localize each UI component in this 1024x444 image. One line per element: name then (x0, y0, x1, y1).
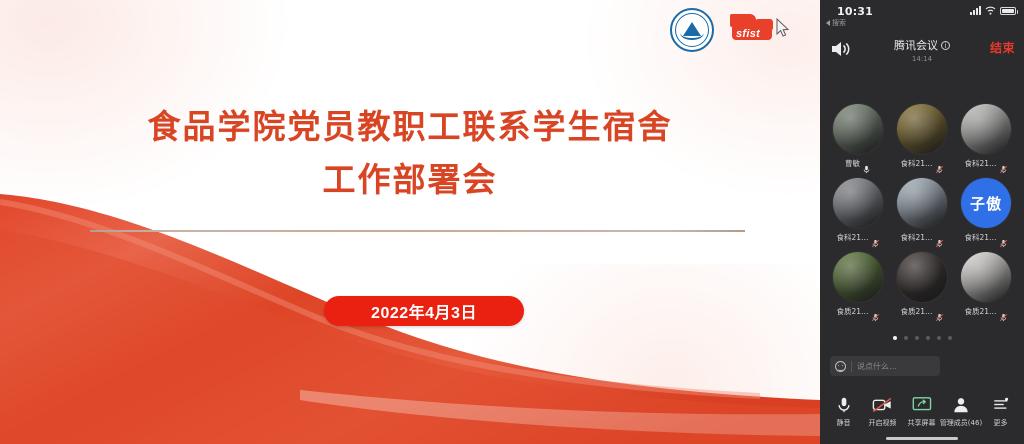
slide-title-line-1: 食品学院党员教职工联系学生宿舍 (0, 100, 820, 153)
participant-tile[interactable]: 曹敏 (830, 104, 886, 169)
participant-name: 食科21… (900, 232, 932, 243)
participant-tile[interactable]: 食科21… (894, 178, 950, 243)
mic-off-icon (935, 159, 944, 168)
cellular-signal-icon (970, 6, 981, 15)
participant-tile[interactable]: 子傲食科21… (958, 178, 1014, 243)
avatar (897, 178, 947, 228)
more-icon (992, 394, 1010, 415)
avatar (961, 252, 1011, 302)
avatar (897, 104, 947, 154)
participant-name: 食科21… (900, 158, 932, 169)
toolbar-button-microphone[interactable]: 静音 (824, 394, 863, 428)
participant-name: 食质21… (900, 306, 932, 317)
page-dot[interactable] (915, 336, 919, 340)
toolbar-button-members[interactable]: 管理成员(46) (941, 394, 981, 428)
toolbar-button-label: 开启视频 (869, 418, 897, 428)
university-seal-logo (670, 8, 714, 52)
participant-name-row: 食科21… (900, 232, 943, 243)
participant-name-row: 食科21… (836, 232, 879, 243)
mic-off-icon (935, 307, 944, 316)
status-indicators (970, 6, 1016, 15)
participant-row: 食科21…食科21…子傲食科21… (830, 178, 1014, 243)
status-bar: 10:31 搜索 (820, 0, 1024, 30)
share-screen-icon (912, 394, 932, 415)
logo-group: sfist (670, 8, 776, 52)
participant-name: 食质21… (836, 306, 868, 317)
participant-tile[interactable]: 食质21… (830, 252, 886, 317)
participant-row: 食质21…食质21…食质21… (830, 252, 1014, 317)
mic-off-icon (999, 159, 1008, 168)
page-dot[interactable] (926, 336, 930, 340)
mic-off-icon (871, 233, 880, 242)
participant-name-row: 曹敏 (845, 158, 871, 169)
emoji-icon[interactable] (835, 361, 846, 372)
toolbar-button-label: 共享屏幕 (908, 418, 936, 428)
back-app-label: 搜索 (832, 18, 846, 28)
avatar (961, 104, 1011, 154)
participant-name: 食科21… (964, 158, 996, 169)
participant-name-row: 食质21… (836, 306, 879, 317)
toolbar-button-more[interactable]: 更多 (981, 394, 1020, 428)
slide-date-badge: 2022年4月3日 (324, 296, 524, 326)
presentation-slide: sfist 食品学院党员教职工联系学生宿舍 工作部署会 2022年4月3日 (0, 0, 820, 444)
avatar (833, 178, 883, 228)
meeting-header: 腾讯会议i 14:14 结束 (820, 30, 1024, 72)
page-dot[interactable] (948, 336, 952, 340)
sfist-logo-text: sfist (736, 28, 760, 40)
participant-name: 食科21… (836, 232, 868, 243)
avatar-initials: 子傲 (961, 178, 1011, 228)
mic-off-icon (871, 307, 880, 316)
meeting-app-title-text: 腾讯会议 (894, 39, 938, 52)
participant-tile[interactable]: 食科21… (958, 104, 1014, 169)
status-clock: 10:31 (837, 5, 873, 18)
participant-name: 食质21… (964, 306, 996, 317)
battery-icon (1000, 7, 1016, 15)
phone-meeting-panel: 10:31 搜索 腾讯会议i (820, 0, 1024, 444)
slide-title-line-2: 工作部署会 (0, 153, 820, 206)
mic-off-icon (999, 307, 1008, 316)
sfist-logo: sfist (728, 10, 776, 50)
wifi-icon (985, 6, 996, 15)
participant-name-row: 食质21… (964, 306, 1007, 317)
avatar (833, 104, 883, 154)
toolbar-button-label: 静音 (837, 418, 851, 428)
video-off-icon (872, 394, 893, 415)
toolbar-button-share-screen[interactable]: 共享屏幕 (902, 394, 941, 428)
participant-row: 曹敏食科21…食科21… (830, 104, 1014, 169)
members-icon (952, 394, 970, 415)
home-indicator (886, 437, 958, 441)
mic-on-icon (862, 159, 871, 168)
page-indicator-dots[interactable] (820, 336, 1024, 340)
participant-name-row: 食科21… (964, 232, 1007, 243)
avatar: 子傲 (961, 178, 1011, 228)
screen-root: sfist 食品学院党员教职工联系学生宿舍 工作部署会 2022年4月3日 10… (0, 0, 1024, 444)
slide-title-block: 食品学院党员教职工联系学生宿舍 工作部署会 (0, 100, 820, 207)
toolbar-button-video-off[interactable]: 开启视频 (863, 394, 902, 428)
seal-wave-mark (680, 33, 704, 40)
page-dot[interactable] (937, 336, 941, 340)
participant-grid: 曹敏食科21…食科21…食科21…食科21…子傲食科21…食质21…食质21…食… (820, 104, 1024, 326)
back-arrow-icon (826, 20, 830, 26)
toolbar-button-label: 管理成员(46) (940, 418, 982, 428)
participant-tile[interactable]: 食质21… (894, 252, 950, 317)
toolbar-button-label: 更多 (994, 418, 1008, 428)
page-dot[interactable] (904, 336, 908, 340)
chat-input-bar[interactable]: 说点什么… (830, 356, 940, 376)
chat-input-placeholder: 说点什么… (851, 361, 897, 372)
microphone-icon (835, 394, 853, 415)
info-icon[interactable]: i (941, 41, 950, 50)
back-to-app-link[interactable]: 搜索 (826, 18, 846, 28)
mouse-cursor (776, 18, 790, 38)
avatar (897, 252, 947, 302)
meeting-timer: 14:14 (820, 55, 1024, 63)
avatar (833, 252, 883, 302)
title-divider-rule (90, 230, 745, 232)
participant-name: 曹敏 (845, 158, 860, 169)
participant-tile[interactable]: 食科21… (830, 178, 886, 243)
participant-name-row: 食科21… (964, 158, 1007, 169)
meeting-toolbar: 静音开启视频共享屏幕管理成员(46)更多 (820, 394, 1024, 428)
participant-name-row: 食质21… (900, 306, 943, 317)
page-dot[interactable] (893, 336, 897, 340)
end-meeting-button[interactable]: 结束 (990, 39, 1015, 56)
participant-name: 食科21… (964, 232, 996, 243)
participant-name-row: 食科21… (900, 158, 943, 169)
mic-off-icon (999, 233, 1008, 242)
participant-tile[interactable]: 食科21… (894, 104, 950, 169)
participant-tile[interactable]: 食质21… (958, 252, 1014, 317)
mic-off-icon (935, 233, 944, 242)
